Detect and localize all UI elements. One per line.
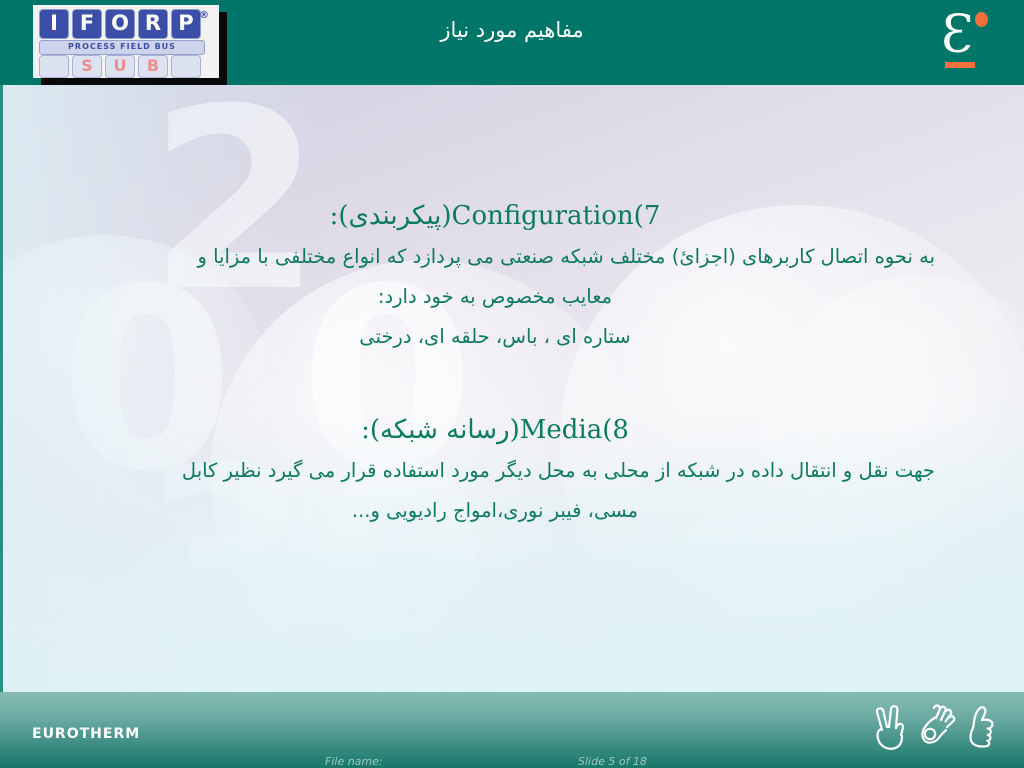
bus-box-blank-left: .	[171, 55, 201, 78]
bus-box-blank-right: .	[39, 55, 69, 78]
file-name-label: File name:	[325, 755, 383, 768]
block-line: معایب مخصوص به خود دارد:	[55, 277, 935, 317]
profibus-letter-b: B	[138, 55, 168, 78]
block-line: مسی، فیبر نوری،امواج رادیویی و...	[55, 491, 935, 531]
hand-icon-group	[872, 700, 1000, 752]
profibus-letter-u: U	[105, 55, 135, 78]
epsilon-logo: Ɛ	[935, 10, 999, 72]
profibus-tagline: PROCESS FIELD BUS	[39, 40, 205, 55]
epsilon-dot-icon	[975, 12, 988, 27]
slide-content: 7)Configuration(پیکربندی): به نحوه اتصال…	[55, 195, 935, 531]
slide-body: 2 0 0 3 0 7)Configuration(پیکربندی): به …	[0, 85, 1024, 692]
block-heading: 7)Configuration(پیکربندی):	[55, 195, 935, 237]
block-line: جهت نقل و انتقال داده در شبکه از محلی به…	[55, 451, 935, 491]
victory-hand-icon	[872, 700, 912, 752]
left-accent-stripe	[0, 85, 3, 692]
thumbs-up-icon	[962, 700, 1000, 752]
page-title: مفاهیم مورد نیاز	[0, 18, 1024, 42]
epsilon-glyph-icon: Ɛ	[941, 10, 973, 60]
profibus-letter-s: S	[72, 55, 102, 78]
slide-number-label: Slide 5 of 18	[578, 755, 647, 768]
block-spacer	[55, 357, 935, 409]
slide: P R O F I ® PROCESS FIELD BUS . B U S . …	[0, 0, 1024, 768]
ok-hand-icon	[916, 700, 958, 752]
content-block-configuration: 7)Configuration(پیکربندی): به نحوه اتصال…	[55, 195, 935, 357]
block-line: ستاره ای ، باس، حلقه ای، درختی	[55, 317, 935, 357]
slide-footer: EUROTHERM	[0, 692, 1024, 768]
block-line: به نحوه اتصال کاربرهای (اجزائ) مختلف شبک…	[55, 237, 935, 277]
eurotherm-brand: EUROTHERM	[32, 726, 140, 742]
slide-header: P R O F I ® PROCESS FIELD BUS . B U S . …	[0, 0, 1024, 85]
profibus-bus-row: . B U S .	[39, 55, 201, 78]
content-block-media: 8)Media(رسانه شبکه): جهت نقل و انتقال دا…	[55, 409, 935, 531]
epsilon-bar-icon	[945, 62, 975, 68]
block-heading: 8)Media(رسانه شبکه):	[55, 409, 935, 451]
